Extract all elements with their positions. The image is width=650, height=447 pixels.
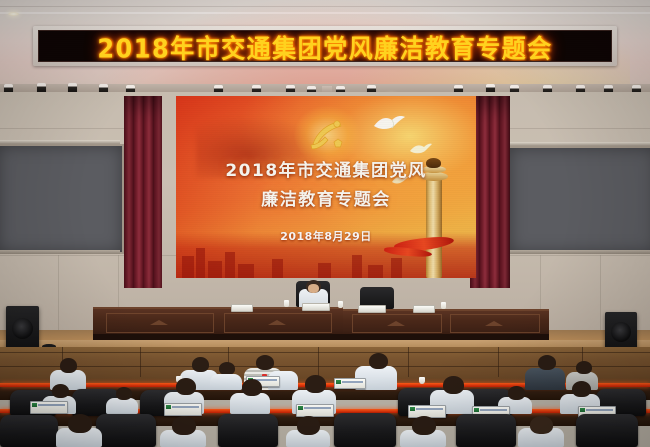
audience-person-head <box>530 416 553 434</box>
wood-wall-seam <box>408 347 409 377</box>
skyline-building <box>272 259 283 278</box>
wood-wall-seam <box>0 352 650 353</box>
audience-name-card <box>30 401 68 414</box>
screen-date: 2018年8月29日 <box>176 228 476 244</box>
audience-person-torso <box>525 368 565 390</box>
stage-speaker-face <box>308 284 319 293</box>
dove-icon <box>409 140 433 159</box>
name-card-logo <box>298 406 303 410</box>
water-cup <box>338 301 343 308</box>
audience-person-head <box>412 416 436 435</box>
acoustic-board-right <box>508 146 650 254</box>
name-card-logo <box>410 407 415 411</box>
stage-curtain-right <box>470 96 510 288</box>
audience-person-torso <box>230 393 270 414</box>
acoustic-board-trim <box>508 250 650 254</box>
audience-person-head <box>508 386 525 400</box>
skyline-building <box>318 263 331 278</box>
audience-person-head <box>60 358 77 373</box>
audience-person-torso <box>106 398 138 414</box>
audience-seat <box>96 414 156 447</box>
audience-person-head <box>369 353 388 369</box>
name-card-text <box>304 407 331 409</box>
audience-person-head <box>576 361 592 374</box>
audience-person-head <box>538 355 556 370</box>
led-banner-text: 2018年市交通集团党风廉洁教育专题会 <box>97 30 552 62</box>
head-table-nameplate <box>358 305 386 313</box>
downlight-icon <box>8 12 19 16</box>
cpc-emblem-icon <box>307 118 347 152</box>
name-card-text <box>38 404 65 406</box>
audience-person-head <box>176 378 196 395</box>
name-card-logo <box>32 403 37 407</box>
skyline-building <box>352 255 362 278</box>
acoustic-board-left <box>0 144 124 254</box>
audience-person-head <box>297 416 320 435</box>
screen-title-line1: 2018年市交通集团党风 <box>176 158 476 185</box>
table-base <box>93 334 549 340</box>
conference-hall-photo: 2018年市交通集团党风廉洁教育专题会 <box>0 0 650 447</box>
audience-person-torso <box>210 374 242 390</box>
audience-person-head <box>116 387 132 400</box>
speaker-cone <box>12 318 33 339</box>
table-chevron-ornament <box>387 321 405 326</box>
audience-seat <box>334 413 396 447</box>
name-card-text <box>416 408 443 410</box>
audience-person-head <box>192 357 209 372</box>
wall-seam <box>505 128 650 129</box>
audience-person-head <box>256 355 274 370</box>
name-card-logo <box>336 380 341 384</box>
wood-wall-seam <box>498 347 499 377</box>
name-card-text <box>480 409 507 411</box>
led-banner: 2018年市交通集团党风廉洁教育专题会 <box>33 26 617 66</box>
audience-person-head <box>443 376 464 394</box>
name-card-logo <box>166 405 171 409</box>
acoustic-board-trim <box>0 250 120 254</box>
table-chevron-ornament <box>268 320 286 325</box>
audience-person-head <box>242 379 262 396</box>
wood-wall-seam <box>140 347 141 377</box>
audience-name-card <box>334 378 366 389</box>
wood-wall-seam <box>318 347 319 377</box>
table-chevron-ornament <box>485 321 503 326</box>
name-card-logo <box>580 408 585 412</box>
name-card-text <box>172 406 199 408</box>
skyline-building <box>225 252 235 278</box>
stage-curtain-left <box>124 96 162 288</box>
audience-person-head <box>172 416 196 435</box>
head-table-nameplate <box>413 305 435 313</box>
dove-icon <box>372 114 406 136</box>
table-chevron-ornament <box>150 320 168 325</box>
screen-title-line2: 廉洁教育专题会 <box>176 185 476 210</box>
led-banner-display: 2018年市交通集团党风廉洁教育专题会 <box>38 30 612 62</box>
head-table-nameplate <box>302 303 330 311</box>
name-card-text <box>342 381 363 383</box>
audience-person-head <box>305 375 326 393</box>
audience-person-head <box>52 384 69 398</box>
audience-name-card <box>296 404 334 417</box>
skyline-building <box>238 264 254 278</box>
audience-person-head <box>68 414 92 433</box>
water-cup <box>284 300 289 307</box>
paper-cup <box>419 377 425 384</box>
head-table-nameplate <box>231 304 253 312</box>
name-card-logo <box>474 408 479 412</box>
speaker-cone <box>611 322 631 342</box>
audience-seat <box>456 414 516 447</box>
audience-seat <box>0 415 58 447</box>
skyline-building <box>391 258 402 278</box>
name-card-text <box>586 409 613 411</box>
audience-name-card <box>164 403 202 416</box>
water-cup <box>441 302 446 309</box>
audience-person-head <box>572 381 591 397</box>
audience-seat <box>576 414 638 447</box>
skyline-building <box>368 265 383 278</box>
skyline-building <box>208 261 222 278</box>
audience-seat <box>218 414 278 447</box>
skyline-building <box>196 248 205 278</box>
stage-led-screen: 2018年市交通集团党风 廉洁教育专题会 2018年8月29日 <box>176 96 476 278</box>
skyline-building <box>182 256 194 278</box>
